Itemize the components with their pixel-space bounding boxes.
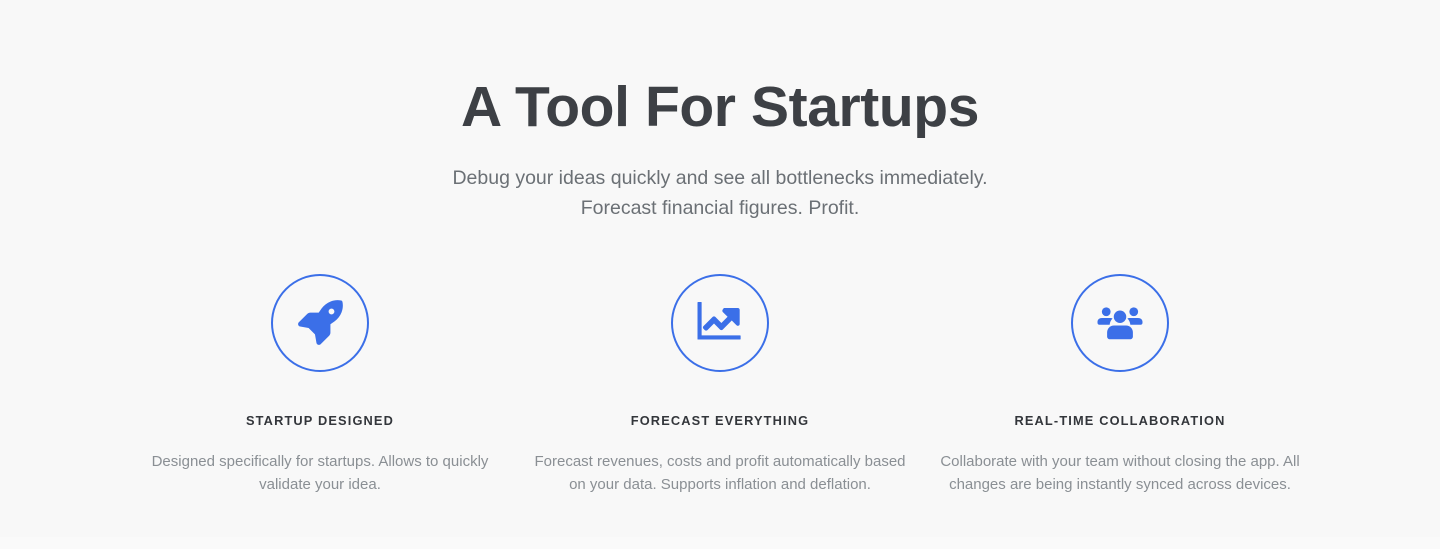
feature-icon-circle-real-time-collaboration — [1071, 274, 1169, 372]
feature-icon-circle-forecast-everything — [671, 274, 769, 372]
feature-title: FORECAST EVERYTHING — [631, 372, 810, 428]
feature-card-forecast-everything: FORECAST EVERYTHING Forecast revenues, c… — [520, 274, 920, 496]
section-heading-block: A Tool For Startups Debug your ideas qui… — [0, 74, 1440, 223]
chart-line-up-icon — [696, 300, 744, 346]
feature-card-real-time-collaboration: REAL-TIME COLLABORATION Collaborate with… — [920, 274, 1320, 496]
feature-list: STARTUP DESIGNED Designed specifically f… — [0, 274, 1440, 496]
section-bottom-divider — [0, 537, 1440, 549]
feature-icon-circle-startup-designed — [271, 274, 369, 372]
page-subtitle: Debug your ideas quickly and see all bot… — [0, 163, 1440, 223]
feature-title: REAL-TIME COLLABORATION — [1014, 372, 1225, 428]
feature-description: Collaborate with your team without closi… — [934, 428, 1306, 496]
feature-description: Forecast revenues, costs and profit auto… — [531, 428, 909, 496]
page-subtitle-line-1: Debug your ideas quickly and see all bot… — [0, 163, 1440, 193]
page-title: A Tool For Startups — [0, 74, 1440, 141]
rocket-icon — [297, 300, 343, 346]
feature-card-startup-designed: STARTUP DESIGNED Designed specifically f… — [120, 274, 520, 496]
features-section: A Tool For Startups Debug your ideas qui… — [0, 0, 1440, 537]
feature-title: STARTUP DESIGNED — [246, 372, 394, 428]
users-group-icon — [1095, 302, 1145, 344]
feature-description: Designed specifically for startups. Allo… — [150, 428, 490, 496]
page-subtitle-line-2: Forecast financial figures. Profit. — [0, 193, 1440, 223]
